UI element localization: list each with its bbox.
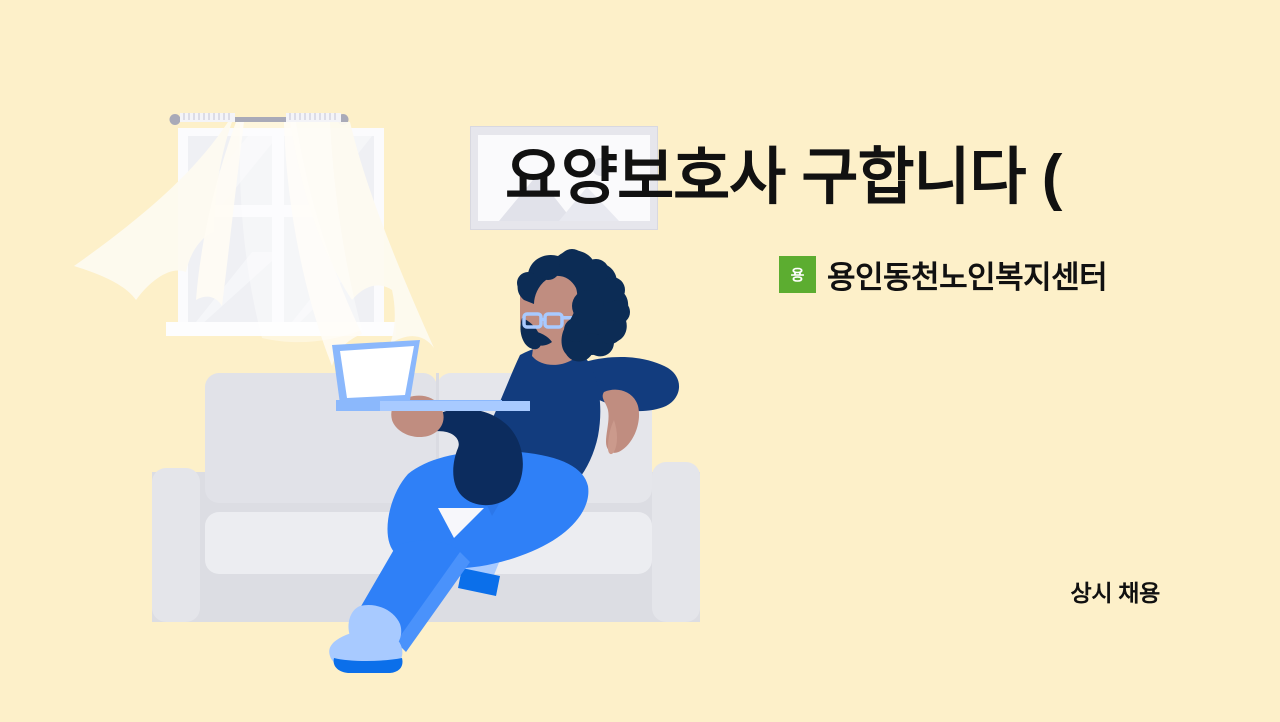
- page-title: 요양보호사 구합니다 (: [470, 126, 1061, 230]
- illustration-man-on-sofa-with-laptop: [0, 0, 1280, 722]
- title-row: 요양보호사 구합니다 (: [470, 126, 1061, 230]
- company-row[interactable]: 용 용인동천노인복지센터: [779, 252, 1107, 297]
- company-name: 용인동천노인복지센터: [827, 252, 1107, 297]
- job-posting-banner: 요양보호사 구합니다 ( 용 용인동천노인복지센터 상시 채용: [0, 0, 1280, 722]
- company-logo: 용: [779, 256, 816, 293]
- hiring-status-label: 상시 채용: [1070, 574, 1160, 608]
